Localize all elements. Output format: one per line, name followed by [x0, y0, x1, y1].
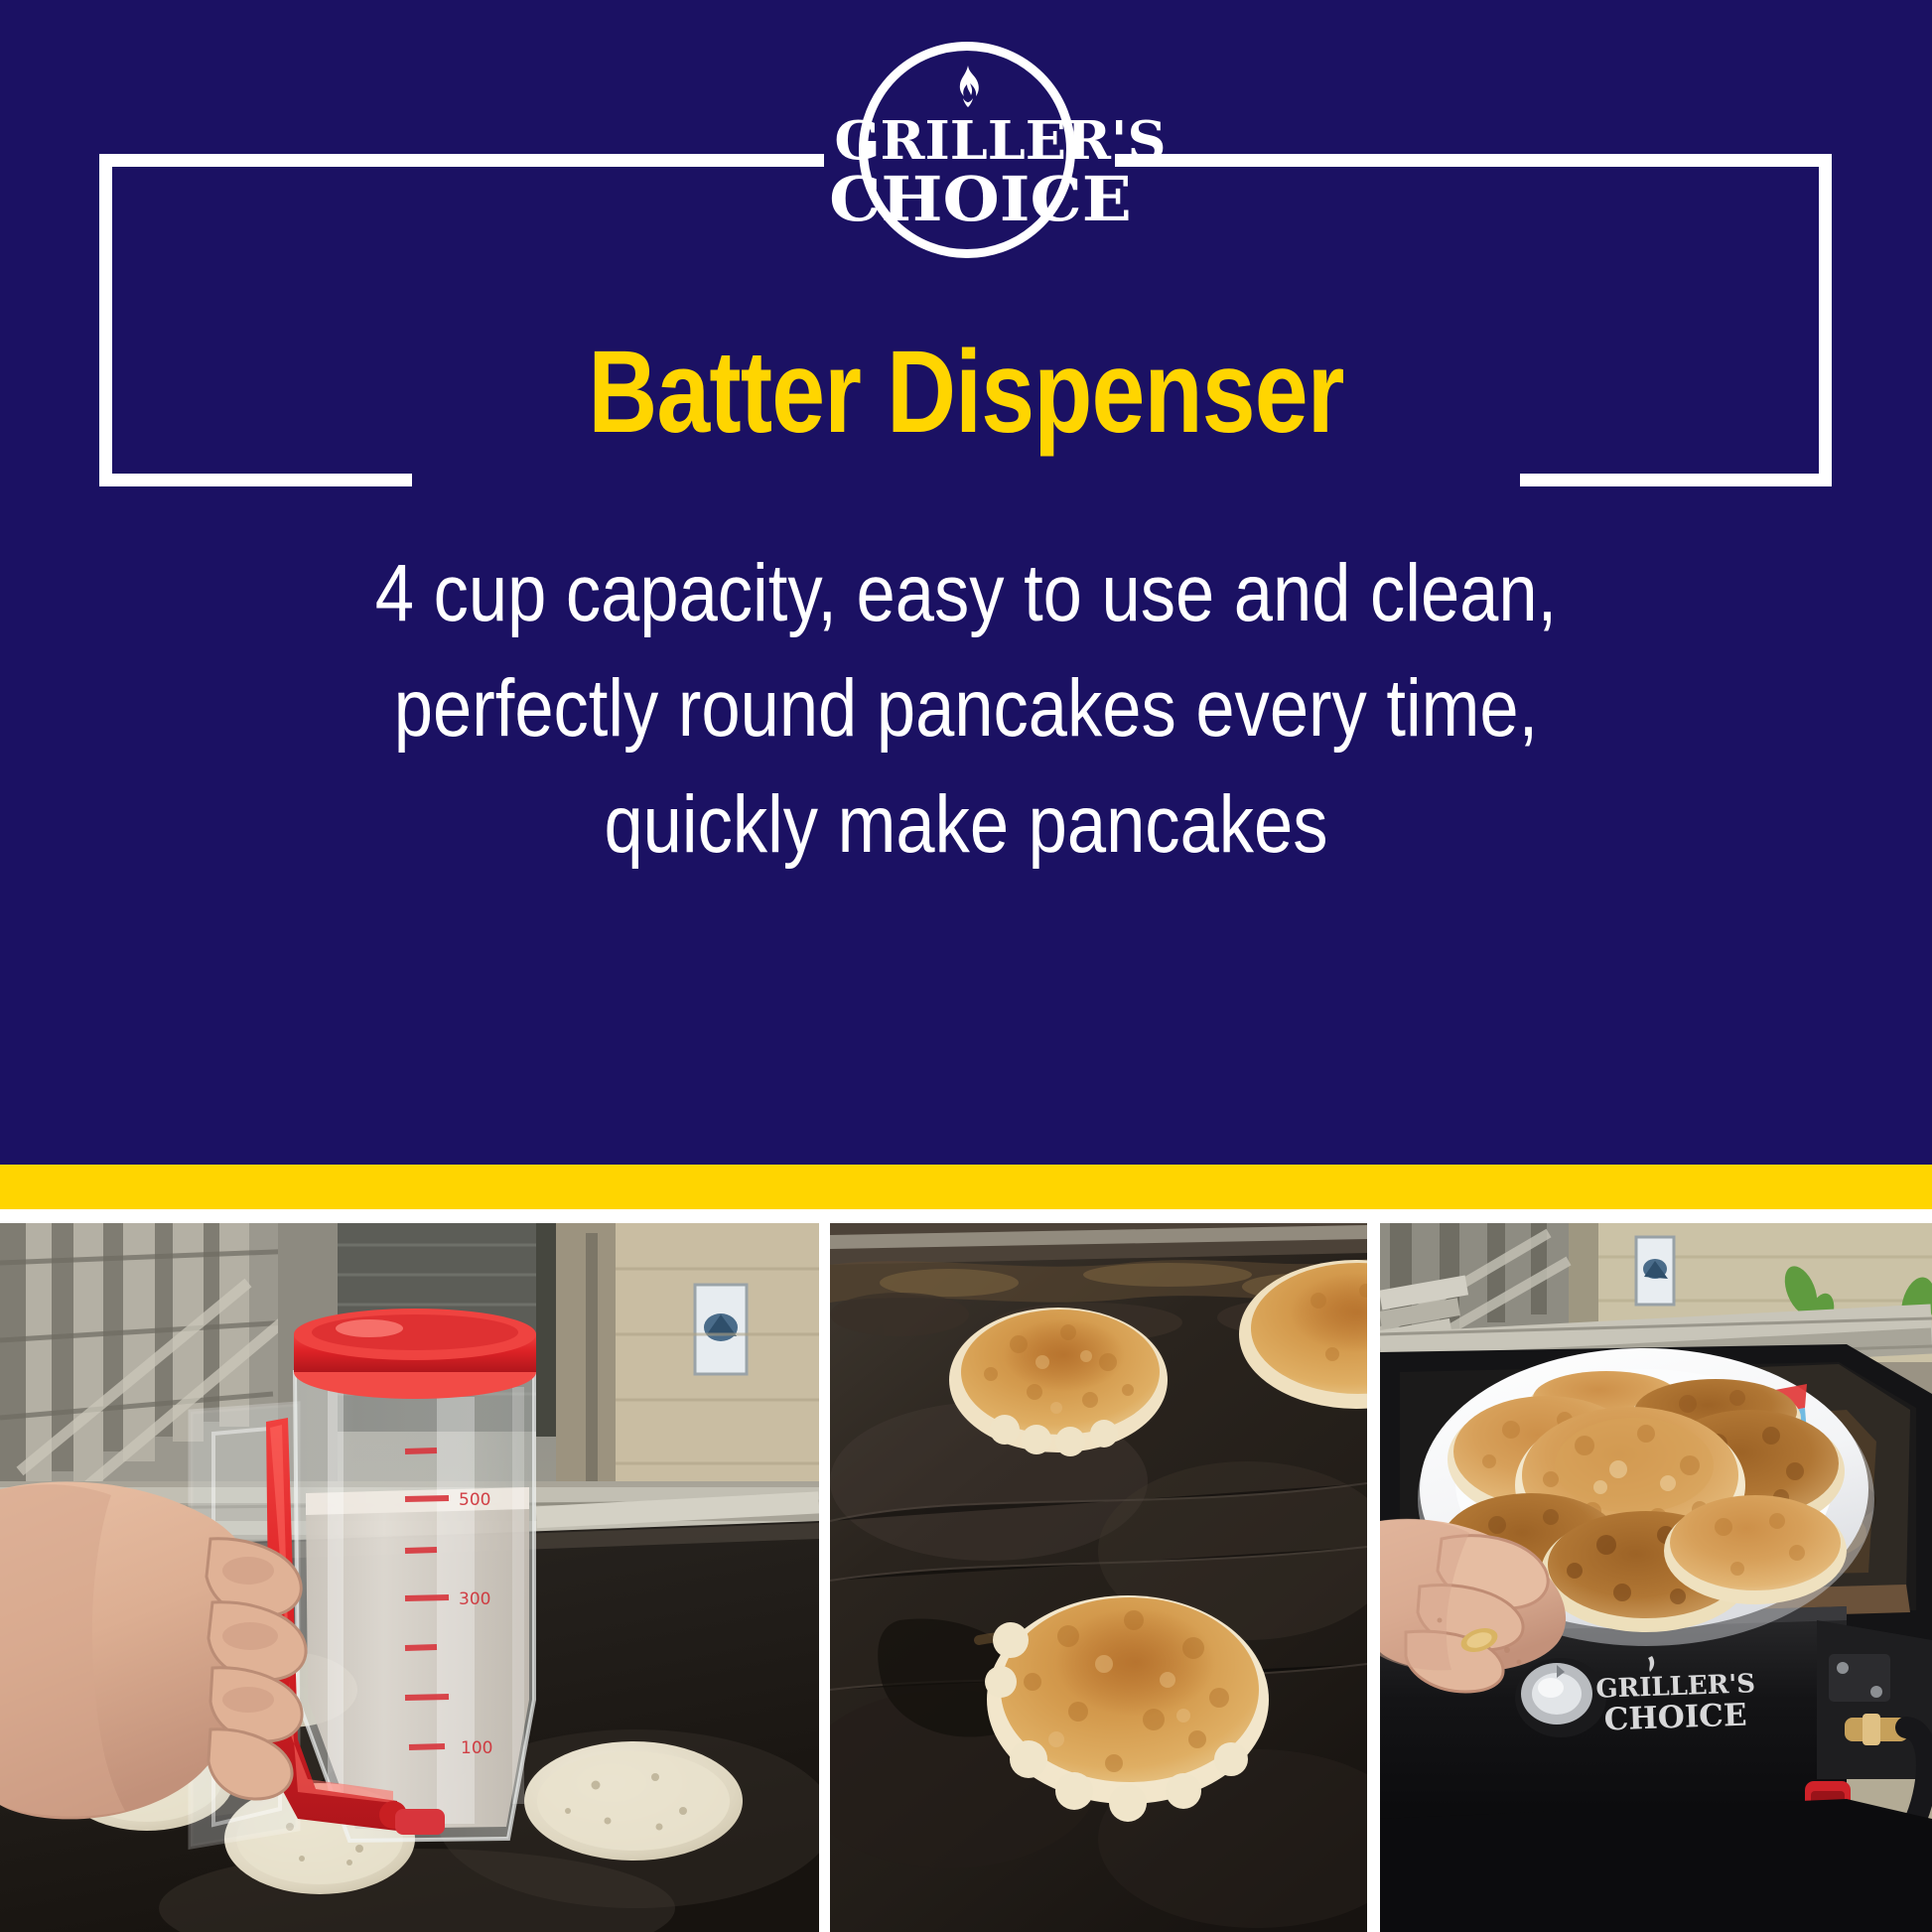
- product-description: 4 cup capacity, easy to use and clean, p…: [283, 536, 1649, 883]
- svg-text:500: 500: [459, 1490, 490, 1510]
- svg-text:300: 300: [459, 1589, 490, 1609]
- description-line-1: 4 cup capacity, easy to use and clean,: [283, 536, 1649, 651]
- brand-logo: GRILLER'S CHOICE: [837, 42, 1099, 242]
- svg-text:100: 100: [461, 1738, 492, 1758]
- product-infographic: GRILLER'S CHOICE Batter Dispenser 4 cup …: [0, 0, 1932, 1932]
- photo-plate-of-finished-pancakes: GRILLER'S CHOICE: [1380, 1223, 1932, 1932]
- description-line-3: quickly make pancakes: [283, 767, 1649, 883]
- product-title: Batter Dispenser: [174, 330, 1758, 456]
- logo-text-line-2: CHOICE: [829, 169, 1107, 230]
- photo-batter-dispenser-in-use: 500 300 100: [0, 1223, 819, 1932]
- frame-line-right: [1819, 154, 1832, 486]
- frame-line-left: [99, 154, 112, 486]
- divider-white-gap: [0, 1209, 1932, 1223]
- frame-line-bottom-right: [1520, 474, 1832, 486]
- flame-icon: [953, 66, 983, 109]
- frame-line-top-left: [99, 154, 824, 167]
- grill-badge-line-2: CHOICE: [1603, 1698, 1747, 1738]
- frame-line-bottom-left: [99, 474, 412, 486]
- hero-section: GRILLER'S CHOICE Batter Dispenser 4 cup …: [0, 0, 1932, 1165]
- description-line-2: perfectly round pancakes every time,: [283, 651, 1649, 766]
- accent-divider-bar: [0, 1165, 1932, 1209]
- photo-pancakes-cooking-on-griddle: [830, 1223, 1367, 1932]
- logo-text-line-1: GRILLER'S: [834, 115, 1101, 168]
- photo-strip: 500 300 100: [0, 1223, 1932, 1932]
- frame-line-top-right: [1115, 154, 1832, 167]
